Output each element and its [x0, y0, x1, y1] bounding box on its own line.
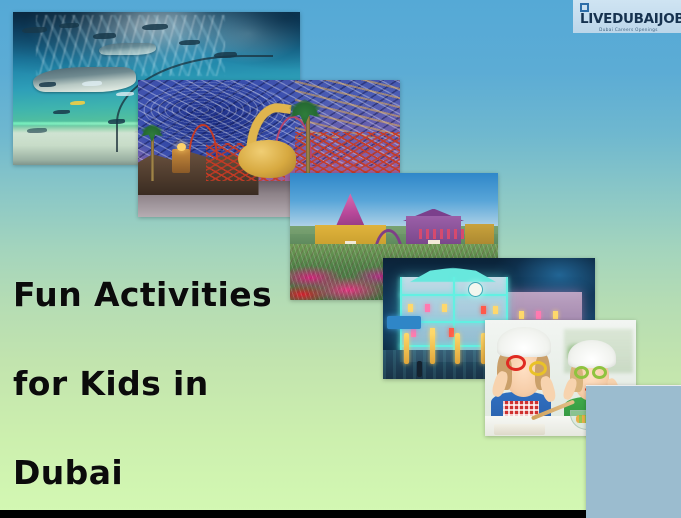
- palm-trunk: [151, 135, 154, 182]
- fish-silhouette: [214, 52, 237, 58]
- shark-large: [33, 67, 136, 91]
- lit-window: [553, 311, 558, 319]
- headline-line-3: Dubai: [13, 428, 313, 517]
- pepper-ring-red: [506, 355, 526, 371]
- fish-silhouette: [39, 82, 56, 87]
- lamp-post: [455, 333, 460, 364]
- photo-kids-crafts: [586, 385, 681, 518]
- logo-wordmark: LIVEDUBAIJOBS: [580, 13, 677, 26]
- fish-silhouette: [59, 23, 79, 28]
- poster-canvas: Fun Activities for Kids in Dubai LIVEDUB…: [0, 0, 681, 518]
- lantern-tower: [172, 149, 190, 173]
- lamp-post: [430, 333, 435, 364]
- direction-sign: [387, 316, 421, 329]
- lit-window: [425, 304, 430, 312]
- lit-window: [411, 328, 416, 337]
- headline-line-1: Fun Activities: [13, 250, 313, 339]
- fish-pale: [82, 81, 102, 86]
- girl-chef-hat: [497, 327, 551, 357]
- pepper-ring-yellow: [529, 361, 547, 376]
- fish-pale: [116, 92, 133, 97]
- lit-window: [408, 304, 413, 312]
- clock-tower-face: [468, 282, 483, 297]
- lit-window: [519, 311, 524, 319]
- dinosaur-body: [238, 140, 296, 178]
- lit-window: [449, 328, 454, 337]
- bottom-bar: [0, 510, 681, 518]
- garden-umbrella-row: [419, 229, 465, 239]
- logo-tagline: Dubai Careers Openings: [580, 26, 677, 33]
- shark-small: [99, 43, 156, 55]
- lit-window: [493, 306, 498, 314]
- headline-line-2: for Kids in: [13, 339, 313, 428]
- cutting-board: [494, 424, 545, 434]
- lamp-post: [404, 333, 409, 364]
- page-title: Fun Activities for Kids in Dubai: [13, 250, 313, 517]
- lit-window: [442, 304, 447, 312]
- fish-silhouette: [27, 128, 47, 133]
- fish-silhouette: [179, 40, 199, 45]
- lit-window: [481, 306, 486, 314]
- fish-yellow: [70, 101, 84, 105]
- flower-castle-spire: [335, 193, 366, 229]
- lit-window: [536, 311, 541, 319]
- fish-silhouette: [93, 33, 116, 39]
- crafts-collage-grid: [586, 385, 681, 386]
- fish-silhouette: [108, 119, 125, 124]
- visitor-silhouette: [417, 361, 422, 377]
- logo-panel[interactable]: LIVEDUBAIJOBS Dubai Careers Openings: [573, 0, 681, 33]
